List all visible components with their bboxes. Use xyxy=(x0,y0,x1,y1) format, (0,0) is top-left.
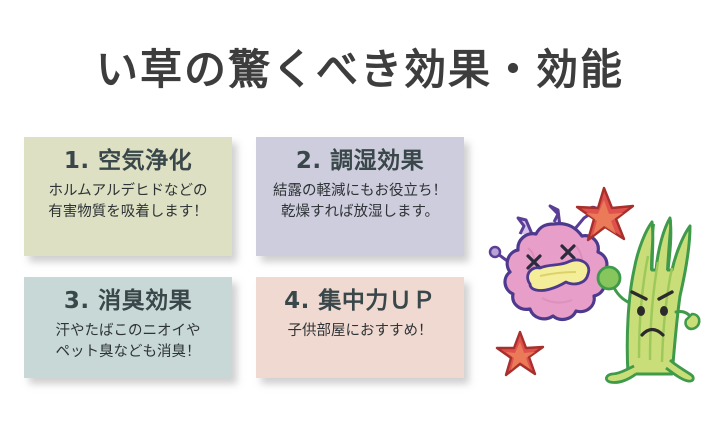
benefit-card-humidity-control: 2. 調湿効果 結露の軽減にもお役立ち！ 乾燥すれば放湿します。 xyxy=(256,137,464,256)
benefit-card-air-purification: 1. 空気浄化 ホルムアルデヒドなどの 有害物質を吸着します！ xyxy=(24,137,232,256)
germ-icon xyxy=(490,206,607,319)
benefit-card-body-line: ペット臭なども消臭！ xyxy=(34,342,222,363)
page-title: い草の驚くべき効果・効能 xyxy=(0,36,720,97)
benefit-card-heading: 3. 消臭効果 xyxy=(34,289,222,314)
impact-star-icon xyxy=(497,332,543,375)
illustration-germ-vs-igusa xyxy=(476,178,716,390)
benefit-card-heading: 4. 集中力ＵＰ xyxy=(266,289,454,314)
igusa-icon xyxy=(598,218,699,383)
impact-star-icon xyxy=(577,188,633,240)
benefit-card-heading: 1. 空気浄化 xyxy=(34,149,222,174)
benefit-card-body-line: 結露の軽減にもお役立ち！ xyxy=(266,181,454,202)
benefit-card-heading: 2. 調湿効果 xyxy=(266,149,454,174)
benefit-card-body-line: 子供部屋におすすめ！ xyxy=(266,321,454,342)
poster-root: い草の驚くべき効果・効能 1. 空気浄化 ホルムアルデヒドなどの 有害物質を吸着… xyxy=(0,0,720,429)
benefit-card-concentration-up: 4. 集中力ＵＰ 子供部屋におすすめ！ xyxy=(256,277,464,378)
benefit-card-deodorizing: 3. 消臭効果 汗やたばこのニオイや ペット臭なども消臭！ xyxy=(24,277,232,378)
benefit-card-body-line: 有害物質を吸着します！ xyxy=(34,202,222,223)
benefit-card-body-line: 汗やたばこのニオイや xyxy=(34,321,222,342)
benefit-card-body: 子供部屋におすすめ！ xyxy=(266,321,454,342)
benefit-card-body-line: ホルムアルデヒドなどの xyxy=(34,181,222,202)
benefit-card-body-line: 乾燥すれば放湿します。 xyxy=(266,202,454,223)
benefit-card-body: 結露の軽減にもお役立ち！ 乾燥すれば放湿します。 xyxy=(266,181,454,222)
benefit-card-body: 汗やたばこのニオイや ペット臭なども消臭！ xyxy=(34,321,222,362)
benefit-card-body: ホルムアルデヒドなどの 有害物質を吸着します！ xyxy=(34,181,222,222)
